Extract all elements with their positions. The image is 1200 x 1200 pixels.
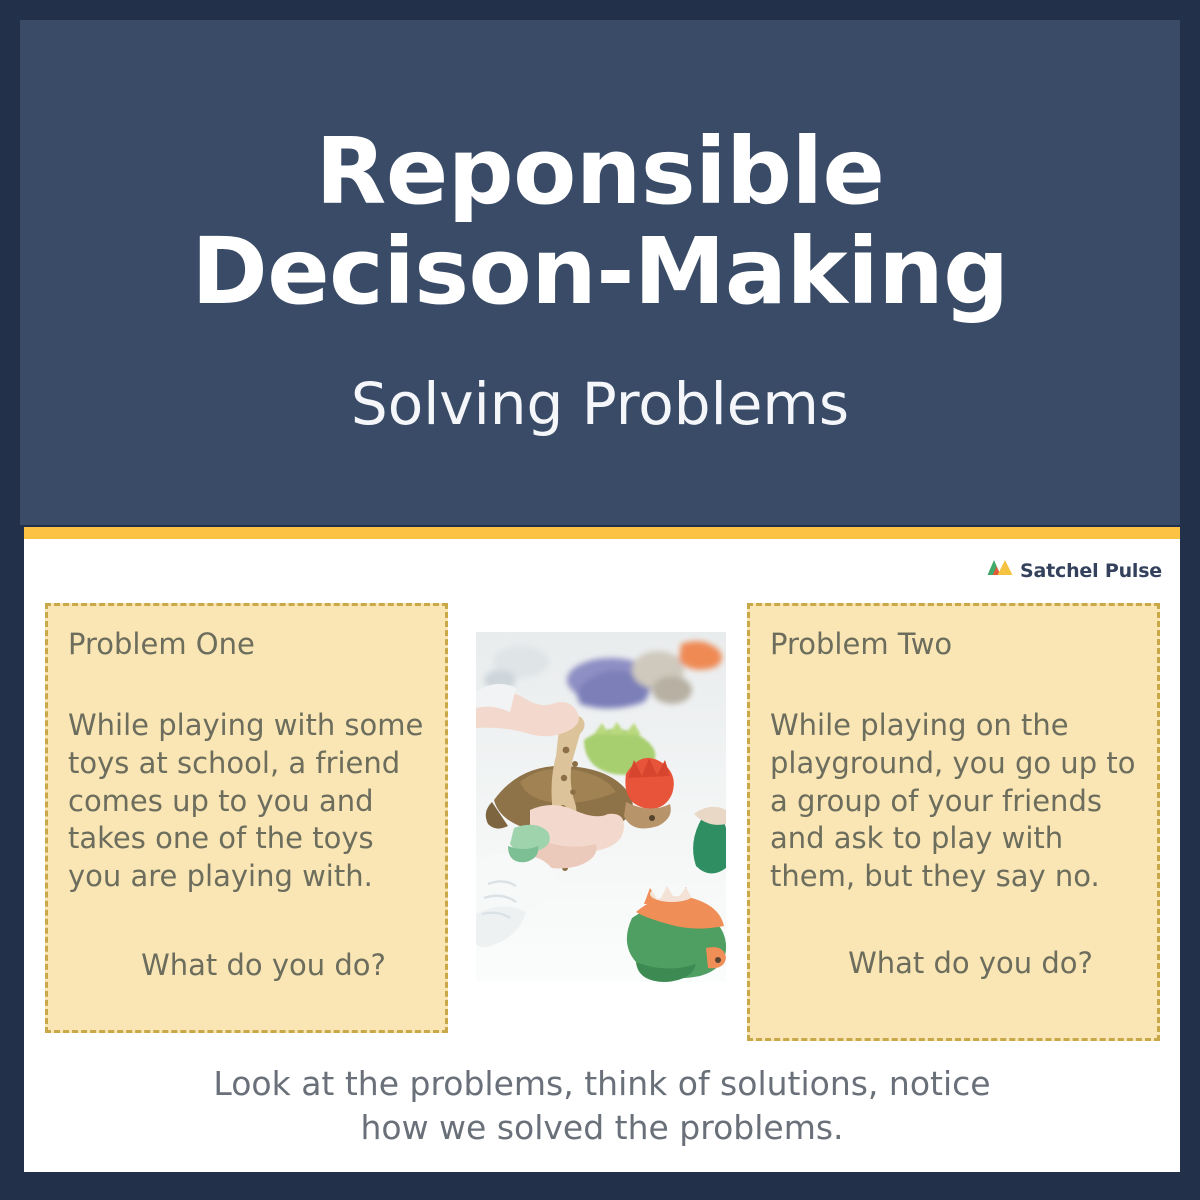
page-subtitle: Solving Problems	[351, 373, 849, 437]
problem-card-one-prompt: What do you do?	[68, 948, 425, 983]
problem-card-two: Problem Two While playing on the playgro…	[747, 603, 1160, 1041]
problem-card-one: Problem One While playing with some toys…	[45, 603, 448, 1033]
content-panel: Satchel Pulse Problem One While playing …	[24, 539, 1180, 1172]
problem-card-one-heading: Problem One	[68, 628, 425, 661]
problem-card-two-body: While playing on the playground, you go …	[770, 707, 1137, 895]
brand-logo: Satchel Pulse	[987, 559, 1162, 582]
instruction-caption: Look at the problems, think of solutions…	[24, 1062, 1180, 1149]
problem-card-two-heading: Problem Two	[770, 628, 1137, 661]
header-panel: Reponsible Decison-Making Solving Proble…	[20, 20, 1180, 525]
page-title: Reponsible Decison-Making	[191, 122, 1008, 321]
accent-divider-bar	[24, 527, 1180, 539]
slide-root: Reponsible Decison-Making Solving Proble…	[0, 0, 1200, 1200]
problem-card-one-body: While playing with some toys at school, …	[68, 707, 425, 895]
problem-card-two-prompt: What do you do?	[770, 946, 1137, 981]
toy-dinosaurs-photo	[476, 632, 726, 982]
brand-logo-text: Satchel Pulse	[1020, 560, 1162, 582]
mountains-icon	[987, 559, 1013, 582]
